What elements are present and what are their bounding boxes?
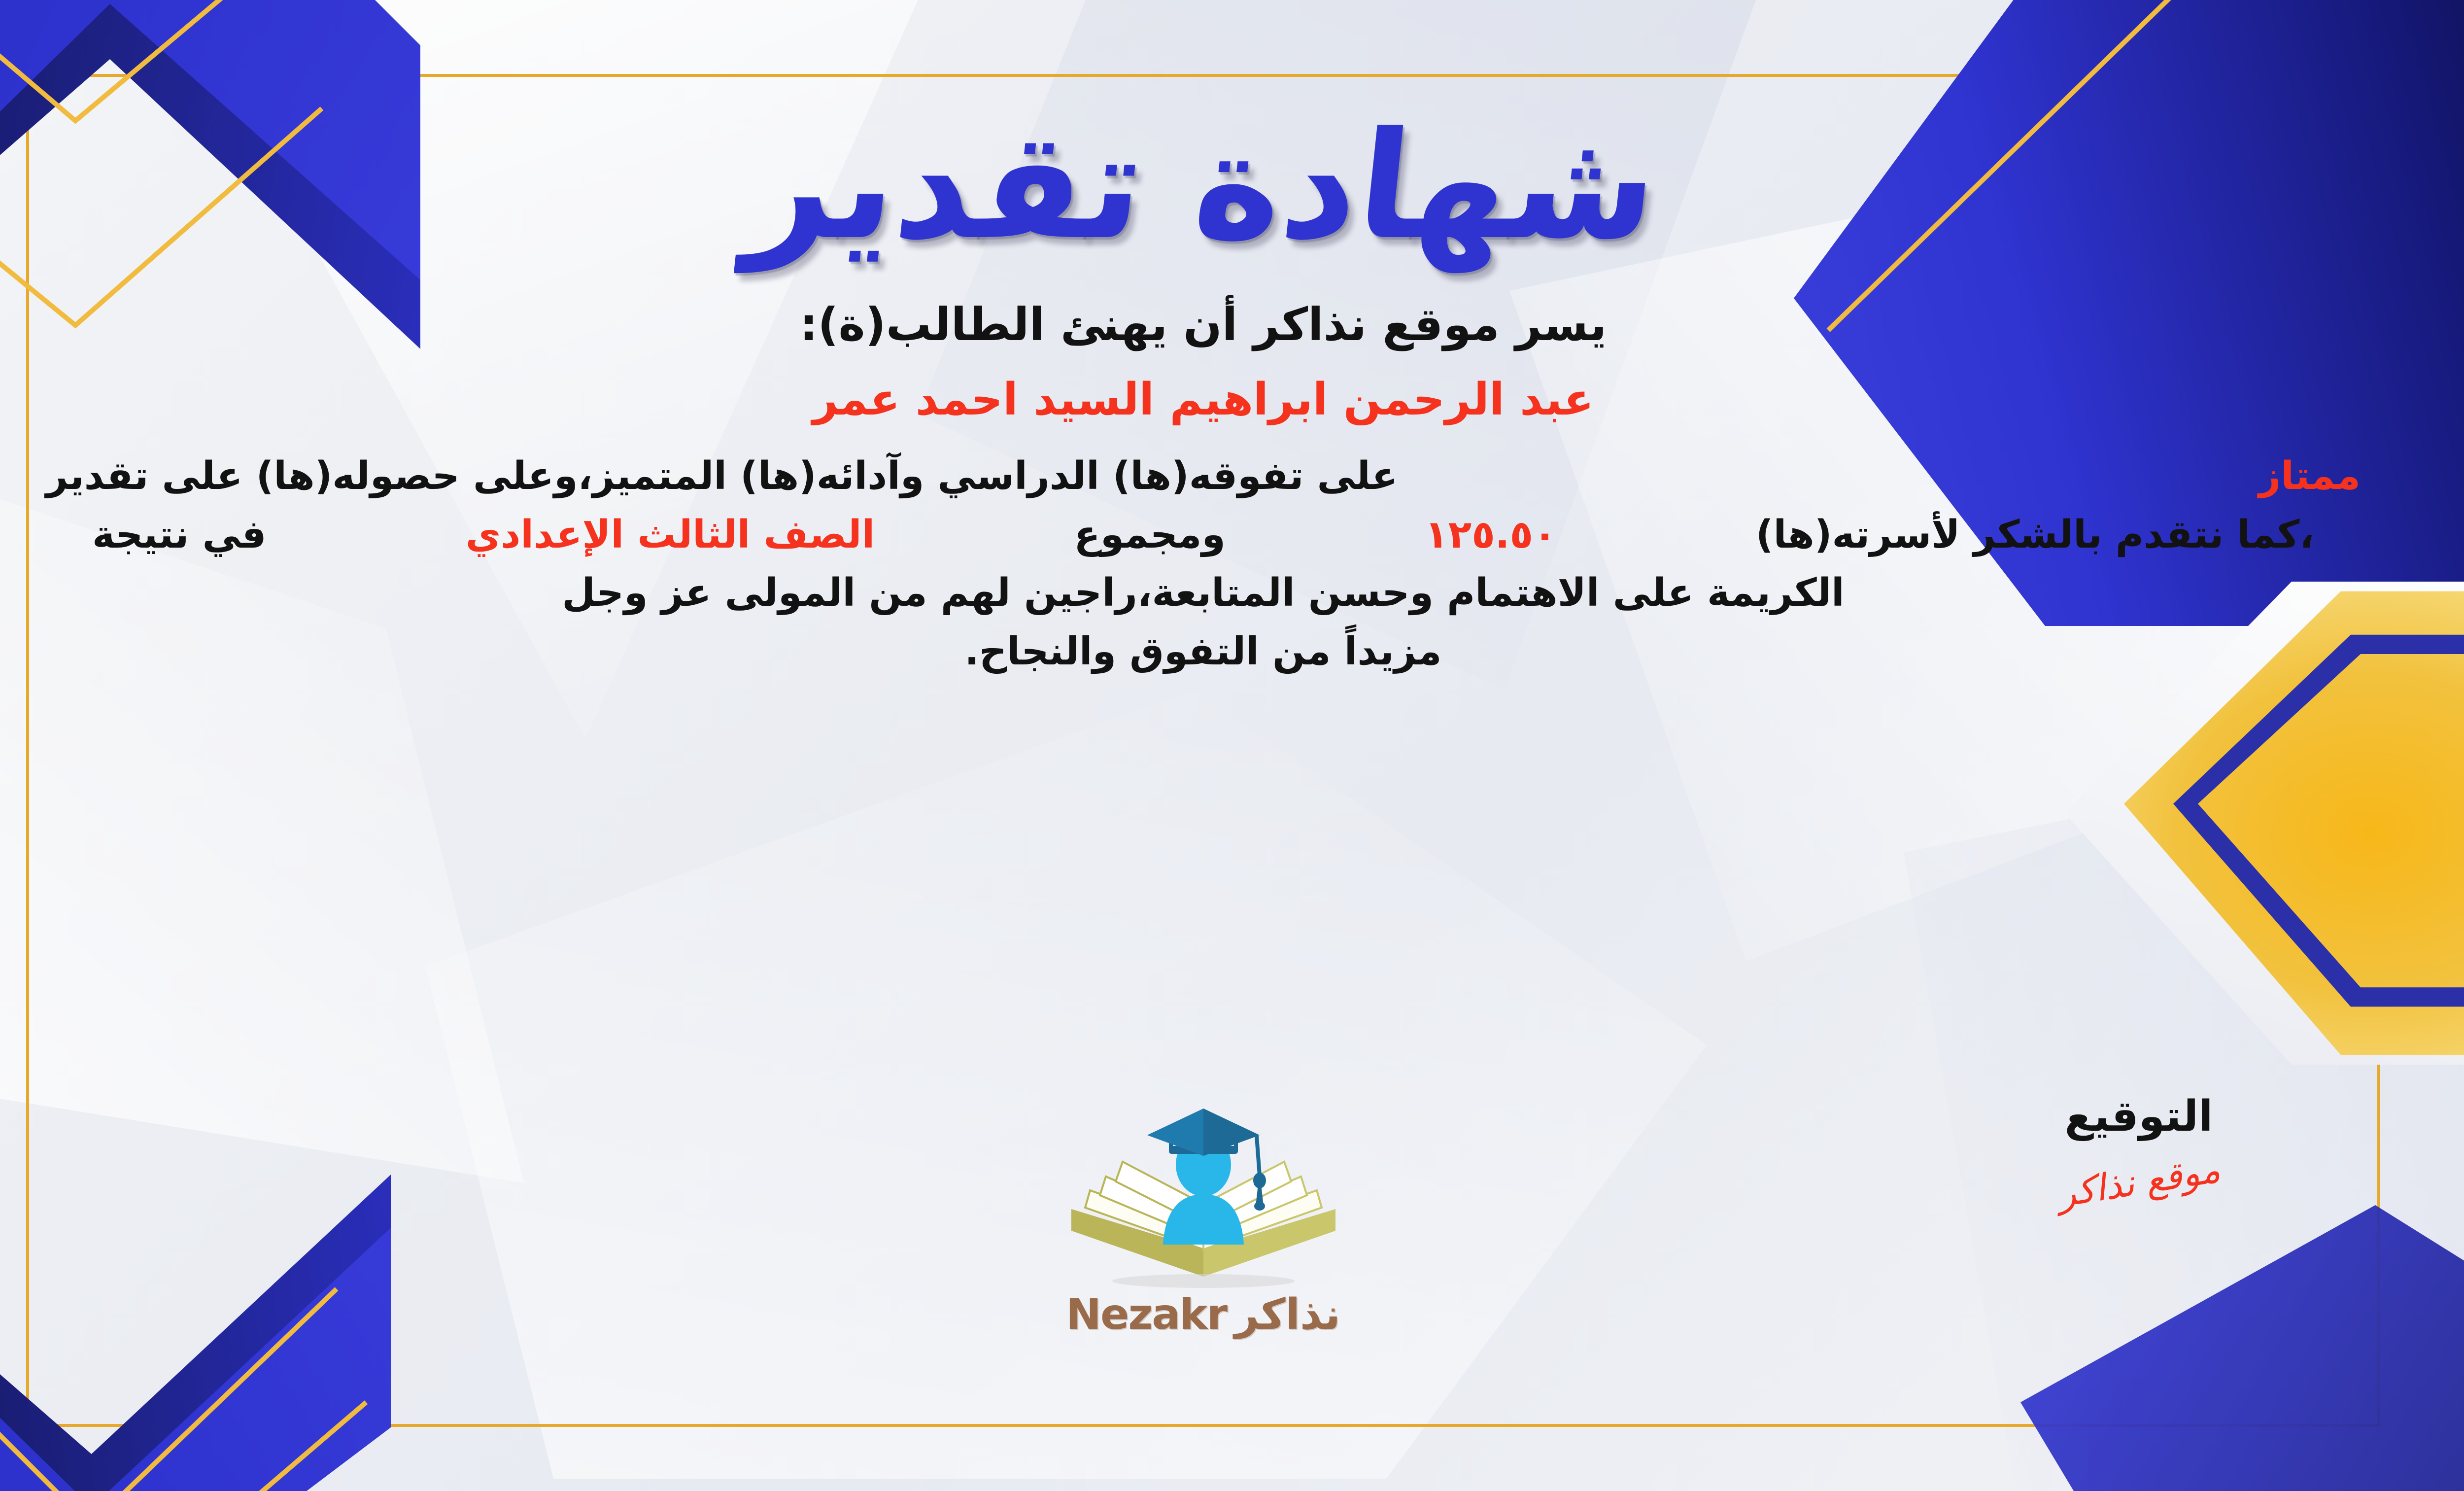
signature-label: التوقيع [1917,1092,2361,1141]
logo-wordmark: نذاكرNezakr [1016,1290,1391,1339]
certificate-page: شهادة تقدير يسر موقع نذاكر أن يهنئ الطال… [0,0,2464,1491]
body-line-achievement: ممتاز على تفوقه(ها) الدراسي وآدائه(ها) ا… [46,447,2361,506]
achievement-text: على تفوقه(ها) الدراسي وآدائه(ها) المتميز… [46,447,1398,506]
certificate-body: ممتاز على تفوقه(ها) الدراسي وآدائه(ها) ا… [46,447,2361,681]
logo-wordmark-ar: نذاكر [1234,1290,1340,1339]
certificate-footer: التوقيع موقع نذاكر [46,1092,2361,1397]
logo-wordmark-en: Nezakr [1066,1290,1227,1339]
family-thanks-text: ،كما نتقدم بالشكر لأسرته(ها) [1756,506,2314,564]
body-line-wishes: مزيداً من التفوق والنجاح. [46,623,2361,681]
certificate-title: شهادة تقدير [741,108,1665,264]
total-score-value: ١٢٥.٥٠ [1425,506,1557,564]
student-name: عبد الرحمن ابراهيم السيد احمد عمر [813,374,1594,425]
gratitude-text: الكريمة على الاهتمام وحسن المتابعة،راجين… [562,564,1845,623]
body-line-result: ،كما نتقدم بالشكر لأسرته(ها) ١٢٥.٥٠ ومجم… [92,506,2314,564]
graduate-on-book-logo-icon [1051,1102,1356,1294]
signature-mark: موقع نذاكر [2054,1148,2223,1216]
class-level-value: الصف الثالث الإعدادي [466,506,875,564]
greeting-line: يسر موقع نذاكر أن يهنئ الطالب(ة): [800,298,1607,351]
wishes-text: مزيداً من التفوق والنجاح. [964,623,1441,681]
result-prefix: في نتيجة [92,506,267,564]
body-line-gratitude: الكريمة على الاهتمام وحسن المتابعة،راجين… [46,564,2361,623]
site-logo: نذاكرNezakr [1016,1102,1391,1339]
total-label: ومجموع [1074,506,1225,564]
grade-value: ممتاز [2259,447,2361,506]
signature-block: التوقيع موقع نذاكر [1917,1092,2361,1203]
